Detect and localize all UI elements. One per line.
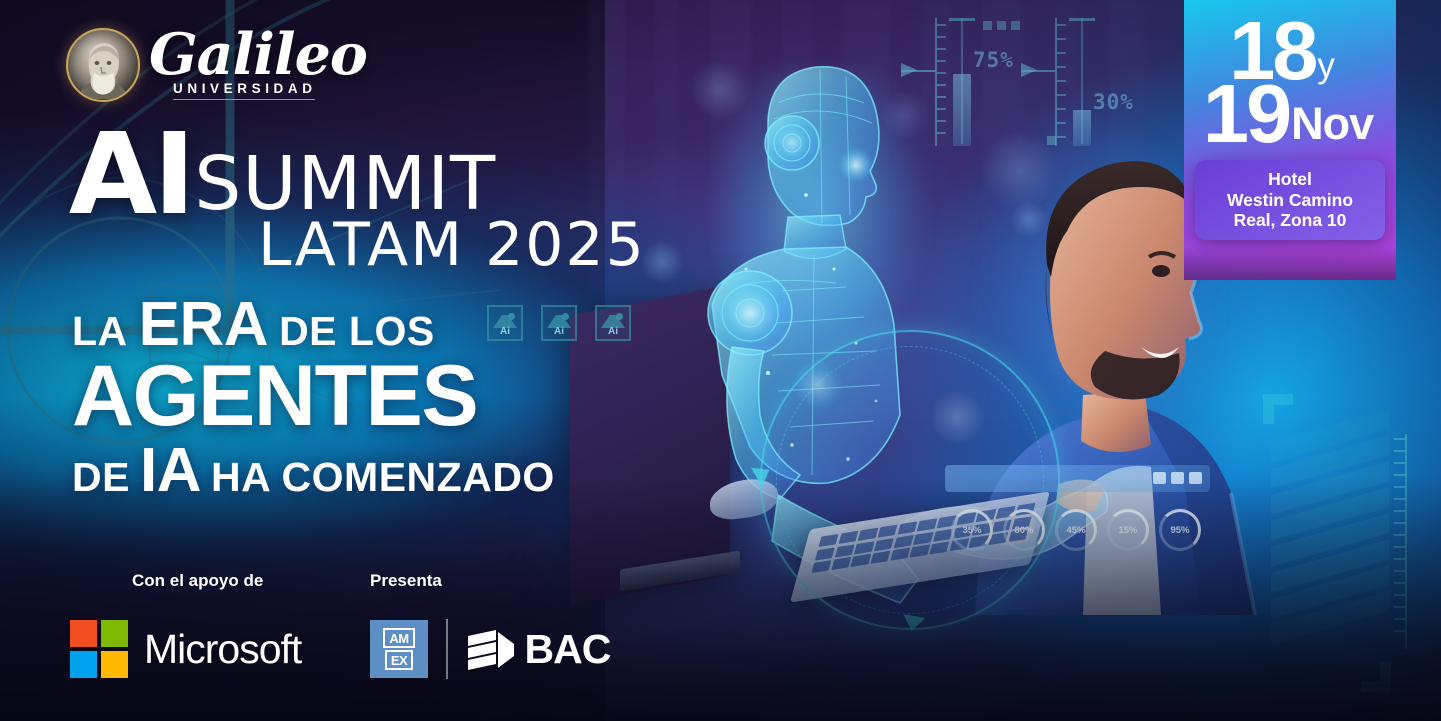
date-day-two: 19 — [1203, 79, 1289, 149]
venue-line-2: Westin Camino — [1201, 190, 1379, 210]
event-title: AI SUMMIT LATAM 2025 — [70, 130, 646, 272]
galileo-bust-portrait-icon — [66, 28, 140, 102]
ai-icon-label: Ai — [597, 326, 629, 337]
bac-mark-icon — [466, 626, 516, 672]
presents-label: Presenta — [370, 571, 442, 591]
venue-badge[interactable]: Hotel Westin Camino Real, Zona 10 — [1195, 160, 1385, 239]
title-summit: SUMMIT — [194, 153, 496, 217]
university-subtitle: UNIVERSIDAD — [173, 81, 315, 100]
amex-line-1: AM — [383, 628, 414, 648]
tagline-agentes: AGENTES — [72, 348, 477, 444]
bac-logo[interactable]: BAC — [466, 626, 611, 673]
event-tagline: LA ERA DE LOS AGENTES DE IA HA COMENZADO — [72, 296, 555, 501]
image-placeholder-ai-icon: Ai — [541, 305, 577, 341]
title-ai: AI — [69, 130, 192, 222]
tagline-ha-comenzado: HA COMENZADO — [211, 458, 555, 497]
microsoft-wordmark: Microsoft — [144, 626, 301, 673]
date-month: Nov — [1291, 101, 1373, 146]
support-label: Con el apoyo de — [70, 571, 370, 591]
tagline-la: LA — [72, 312, 128, 351]
event-date-panel: 18 y 19 Nov Hotel Westin Camino Real, Zo… — [1184, 0, 1396, 280]
date-row-second: 19 Nov — [1203, 79, 1373, 149]
tagline-era: ERA — [139, 296, 268, 355]
amex-line-2: EX — [385, 650, 413, 670]
bac-wordmark: BAC — [525, 626, 611, 673]
title-latam-year: LATAM 2025 — [258, 218, 646, 272]
galileo-university-logo[interactable]: Galileo UNIVERSIDAD — [66, 28, 367, 102]
microsoft-squares-icon — [70, 620, 128, 678]
university-name: Galileo — [149, 30, 367, 79]
sponsor-divider — [446, 619, 448, 679]
ai-icon-label: Ai — [543, 326, 575, 337]
venue-line-1: Hotel — [1201, 169, 1379, 189]
tagline-ia: IA — [140, 442, 201, 501]
sponsor-section: Con el apoyo de Presenta Microsoft AM EX — [70, 571, 630, 679]
presenting-sponsors: AM EX BAC — [370, 619, 610, 679]
image-placeholder-ai-icon: Ai — [595, 305, 631, 341]
ai-icon-label: Ai — [489, 326, 521, 337]
date-conjunction: y — [1317, 48, 1335, 83]
image-placeholder-ai-icon: Ai — [487, 305, 523, 341]
microsoft-logo[interactable]: Microsoft — [70, 620, 370, 678]
tagline-de: DE — [72, 458, 130, 497]
tagline-de-los: DE LOS — [279, 312, 435, 351]
amex-logo[interactable]: AM EX — [370, 620, 428, 678]
ai-placeholder-icon-group: Ai Ai Ai — [487, 305, 631, 341]
venue-line-3: Real, Zona 10 — [1201, 210, 1379, 230]
event-promo-banner: 35% 80% 45% 15% 95% 75% — [0, 0, 1441, 721]
